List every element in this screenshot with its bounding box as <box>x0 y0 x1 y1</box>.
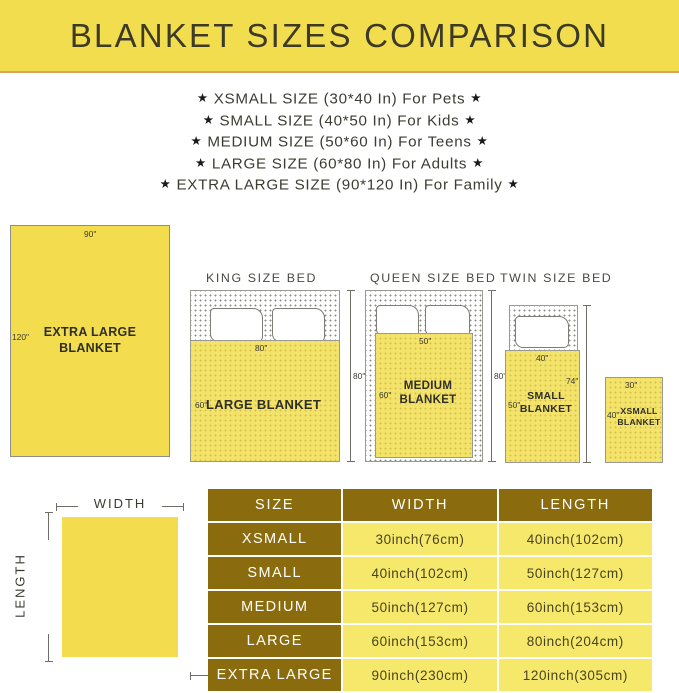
table-cell-size: XSMALL <box>208 523 341 555</box>
xsmall-blanket-name: XSMALL BLANKET <box>615 406 663 427</box>
extra-large-blanket-width-label: 90" <box>84 229 96 239</box>
twin-bed-length-dimension-line <box>586 305 587 463</box>
list-item-label: XSMALL SIZE (30*40 In) For Pets <box>214 91 466 108</box>
list-item: ★ XSMALL SIZE (30*40 In) For Pets ★ <box>0 88 679 110</box>
large-blanket-name: LARGE BLANKET <box>206 397 346 412</box>
queen-bed-title: QUEEN SIZE BED <box>370 271 496 285</box>
table-cell-width: 30inch(76cm) <box>343 523 496 555</box>
table-cell-size: EXTRA LARGE <box>208 659 341 691</box>
table-cell-length: 120inch(305cm) <box>499 659 652 691</box>
key-length-label-mask <box>41 540 56 634</box>
table-cell-size: MEDIUM <box>208 591 341 623</box>
list-item-label: MEDIUM SIZE (50*60 In) For Teens <box>207 134 471 151</box>
list-item: ★ MEDIUM SIZE (50*60 In) For Teens ★ <box>0 131 679 153</box>
medium-blanket-name-line1: MEDIUM <box>383 380 473 394</box>
list-item-label: EXTRA LARGE SIZE (90*120 In) For Family <box>176 177 502 194</box>
table-row: XSMALL 30inch(76cm) 40inch(102cm) <box>208 523 652 555</box>
twin-pillow <box>515 316 569 348</box>
list-item: ★ EXTRA LARGE SIZE (90*120 In) For Famil… <box>0 174 679 196</box>
table-cell-length: 50inch(127cm) <box>499 557 652 589</box>
star-icon: ★ <box>190 134 202 148</box>
star-icon: ★ <box>160 177 172 191</box>
star-icon: ★ <box>464 113 476 127</box>
size-bullet-list: ★ XSMALL SIZE (30*40 In) For Pets ★ ★ SM… <box>0 88 679 196</box>
list-item: ★ SMALL SIZE (40*50 In) For Kids ★ <box>0 110 679 132</box>
king-bed-title: KING SIZE BED <box>206 271 317 285</box>
medium-blanket-width-label: 50" <box>419 336 431 346</box>
extra-large-blanket-name-line1: EXTRA LARGE <box>10 324 170 340</box>
king-bed-length-label: 80" <box>353 371 365 381</box>
xsmall-blanket-name-line1: XSMALL <box>615 406 663 417</box>
table-row: MEDIUM 50inch(127cm) 60inch(153cm) <box>208 591 652 623</box>
table-header-width: WIDTH <box>343 489 496 521</box>
small-blanket-name-line1: SMALL <box>512 390 580 403</box>
small-blanket-name-line2: BLANKET <box>512 403 580 416</box>
small-blanket-name: SMALL BLANKET <box>512 390 580 415</box>
star-icon: ★ <box>197 91 209 105</box>
extra-large-blanket-name-line2: BLANKET <box>10 340 170 356</box>
king-bed-length-dimension-line <box>350 290 351 462</box>
table-row: LARGE 60inch(153cm) 80inch(204cm) <box>208 625 652 657</box>
blanket-size-diagram: 90" 120" EXTRA LARGE BLANKET KING SIZE B… <box>0 215 679 485</box>
star-icon: ★ <box>472 156 484 170</box>
small-blanket-width-label: 40" <box>536 353 548 363</box>
table-header-size: SIZE <box>208 489 341 521</box>
table-header-length: LENGTH <box>499 489 652 521</box>
table-row: SMALL 40inch(102cm) 50inch(127cm) <box>208 557 652 589</box>
star-icon: ★ <box>470 91 482 105</box>
size-table: SIZE WIDTH LENGTH XSMALL 30inch(76cm) 40… <box>208 489 652 693</box>
medium-blanket-name: MEDIUM BLANKET <box>383 380 473 407</box>
xsmall-blanket-width-label: 30" <box>625 380 637 390</box>
table-cell-size: LARGE <box>208 625 341 657</box>
star-icon: ★ <box>195 156 207 170</box>
queen-bed-length-dimension-line <box>491 290 492 462</box>
star-icon: ★ <box>477 134 489 148</box>
table-header-row: SIZE WIDTH LENGTH <box>208 489 652 521</box>
medium-blanket-name-line2: BLANKET <box>383 394 473 408</box>
xsmall-blanket-name-line2: BLANKET <box>615 417 663 428</box>
large-blanket-width-label: 80" <box>255 343 267 353</box>
key-length-label: LENGTH <box>13 538 28 634</box>
list-item: ★ LARGE SIZE (60*80 In) For Adults ★ <box>0 153 679 175</box>
table-cell-length: 40inch(102cm) <box>499 523 652 555</box>
twin-bed-length-label: 74" <box>566 376 578 386</box>
table-cell-width: 40inch(102cm) <box>343 557 496 589</box>
king-pillow-right <box>272 308 325 342</box>
twin-bed-title: TWIN SIZE BED <box>500 271 612 285</box>
header-banner: BLANKET SIZES COMPARISON <box>0 0 679 73</box>
key-width-label: WIDTH <box>0 496 240 511</box>
king-pillow-left <box>210 308 263 342</box>
list-item-label: LARGE SIZE (60*80 In) For Adults <box>212 155 467 172</box>
table-cell-width: 50inch(127cm) <box>343 591 496 623</box>
extra-large-blanket-name: EXTRA LARGE BLANKET <box>10 324 170 356</box>
star-icon: ★ <box>507 177 519 191</box>
table-cell-length: 60inch(153cm) <box>499 591 652 623</box>
key-swatch <box>62 517 178 657</box>
table-row: EXTRA LARGE 90inch(230cm) 120inch(305cm) <box>208 659 652 691</box>
table-cell-size: SMALL <box>208 557 341 589</box>
table-cell-width: 60inch(153cm) <box>343 625 496 657</box>
list-item-label: SMALL SIZE (40*50 In) For Kids <box>220 112 460 129</box>
page-title: BLANKET SIZES COMPARISON <box>0 0 679 71</box>
table-cell-width: 90inch(230cm) <box>343 659 496 691</box>
star-icon: ★ <box>203 113 215 127</box>
table-cell-length: 80inch(204cm) <box>499 625 652 657</box>
